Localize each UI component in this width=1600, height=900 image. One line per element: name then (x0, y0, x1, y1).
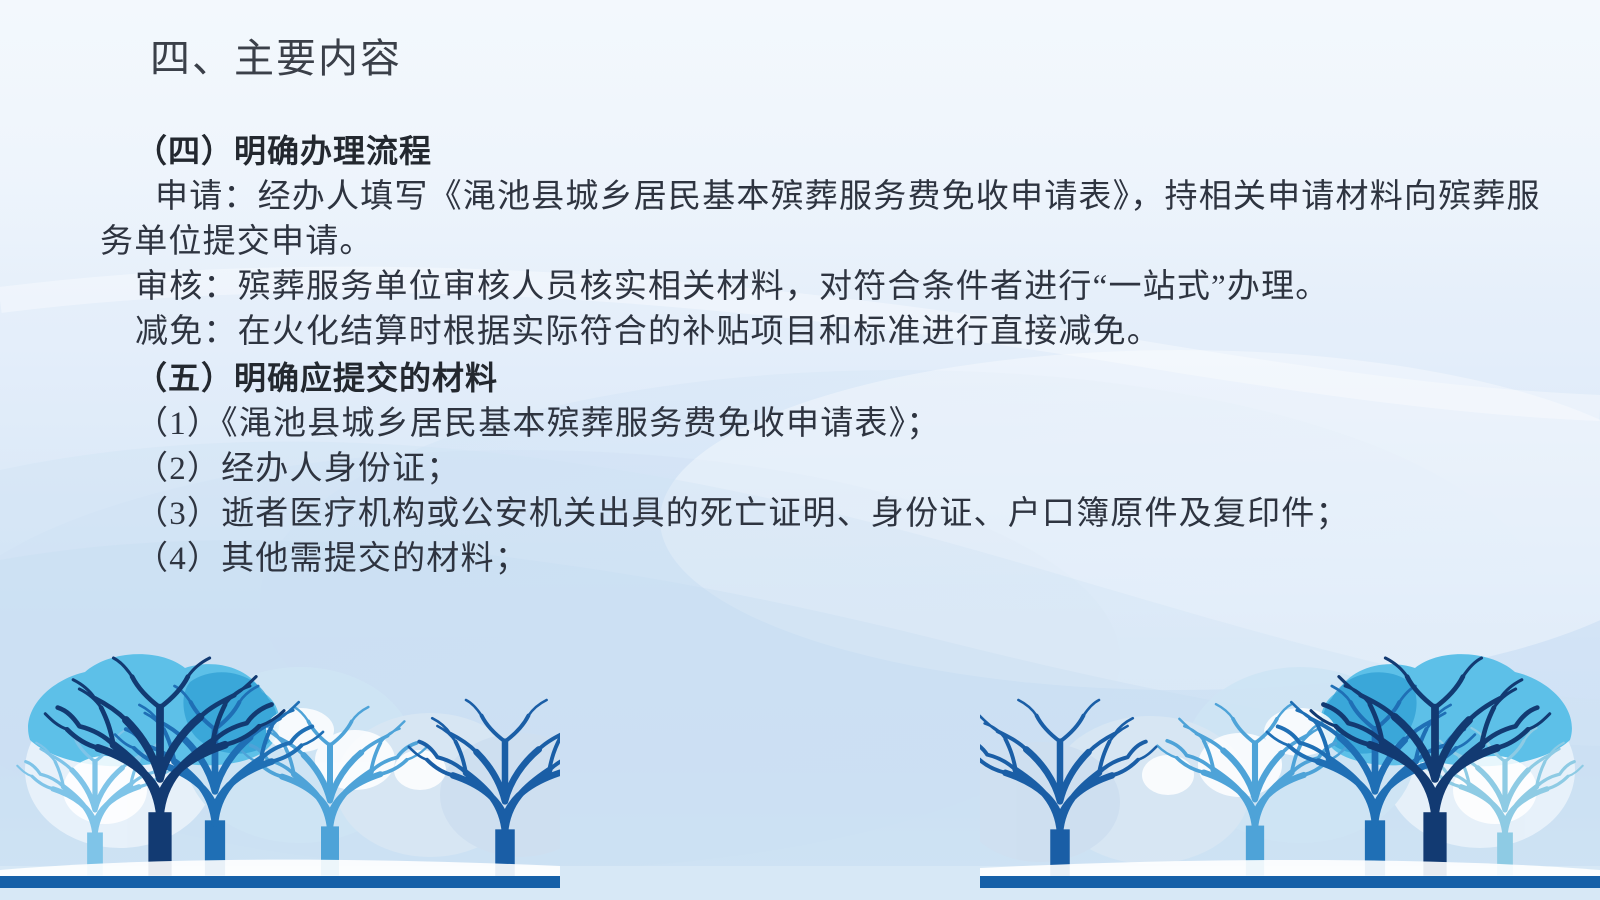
material-item-1: （1）《渑池县城乡居民基本殡葬服务费免收申请表》； (40, 402, 1560, 447)
paragraph-apply: 申请：经办人填写《渑池县城乡居民基本殡葬服务费免收申请表》，持相关申请材料向殡葬… (40, 175, 1560, 265)
tree-cluster-right-icon (980, 620, 1600, 900)
section-heading-5: （五）明确应提交的材料 (40, 355, 1560, 402)
section-heading-4: （四）明确办理流程 (40, 128, 1560, 175)
material-item-2: （2）经办人身份证； (40, 447, 1560, 492)
paragraph-review: 审核：殡葬服务单位审核人员核实相关材料，对符合条件者进行“一站式”办理。 (40, 265, 1560, 310)
page-title: 四、主要内容 (150, 26, 402, 84)
tree-cluster-left-icon (0, 620, 560, 900)
slide-body: （四）明确办理流程 申请：经办人填写《渑池县城乡居民基本殡葬服务费免收申请表》，… (40, 128, 1560, 582)
material-item-4: （4）其他需提交的材料； (40, 537, 1560, 582)
slide-canvas: 四、主要内容 （四）明确办理流程 申请：经办人填写《渑池县城乡居民基本殡葬服务费… (0, 0, 1600, 900)
material-item-3: （3）逝者医疗机构或公安机关出具的死亡证明、身份证、户口簿原件及复印件； (40, 492, 1560, 537)
paragraph-apply-text: 申请：经办人填写《渑池县城乡居民基本殡葬服务费免收申请表》，持相关申请材料向殡葬… (100, 179, 1541, 260)
paragraph-reduction: 减免：在火化结算时根据实际符合的补贴项目和标准进行直接减免。 (40, 310, 1560, 355)
